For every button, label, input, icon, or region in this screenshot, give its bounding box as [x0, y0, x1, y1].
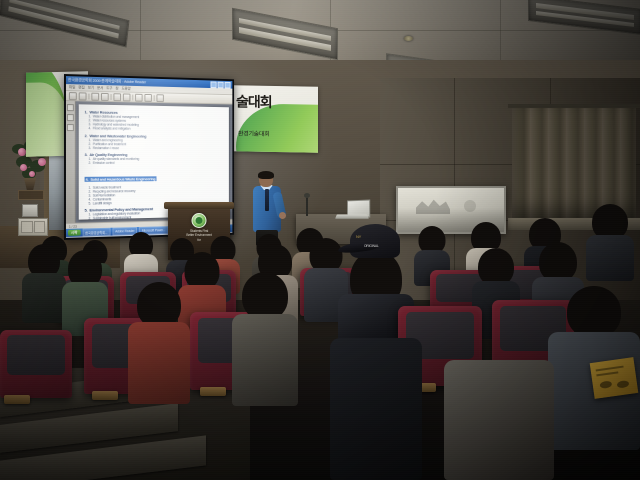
- laptop-keyboard[interactable]: [335, 214, 369, 218]
- audience-torso: [444, 360, 554, 480]
- audience-member: [22, 244, 66, 322]
- doc-section-highlighted: 4. Solid and Hazardous Waste Engineering…: [85, 167, 226, 205]
- banner-right-subtitle: 환경기술대회: [238, 128, 269, 138]
- section-number: 4.: [86, 177, 89, 182]
- conference-program-booklet[interactable]: [590, 357, 639, 399]
- bookmarks-icon[interactable]: [67, 104, 74, 111]
- banner-right-title: 술대회: [236, 91, 272, 112]
- seat-armrest: [4, 395, 30, 404]
- doc-section: 2. Water and Wastewater Engineering 1.Wa…: [85, 133, 226, 150]
- menu-item-edit[interactable]: 편집: [78, 85, 84, 90]
- navigation-pane[interactable]: [66, 101, 76, 223]
- audience-torso: [232, 314, 298, 406]
- section-number: 1.: [85, 109, 88, 114]
- audience-member: [444, 360, 554, 480]
- pages-icon[interactable]: [67, 114, 74, 121]
- cap-brim-text: ORIGINAL: [364, 244, 379, 248]
- ceiling-light-2: [0, 0, 129, 48]
- ceiling-light-1: [232, 8, 338, 61]
- audience-member: [232, 272, 298, 404]
- menu-item-tools[interactable]: 도구: [106, 86, 112, 91]
- start-button[interactable]: 시작: [68, 230, 80, 236]
- banner-right: 술대회 환경기술대회: [232, 85, 318, 153]
- speaker-hand: [279, 212, 286, 219]
- cap-logo: NY: [356, 234, 361, 239]
- seat-armrest: [200, 387, 226, 396]
- speaker-hair: [258, 171, 274, 179]
- doc-section: 3. Air Quality Engineering 1.Air quality…: [85, 152, 226, 165]
- item-text: Sustainable built environment: [93, 216, 131, 220]
- microphone: [306, 196, 308, 216]
- speaker-tie: [265, 189, 269, 211]
- item-text: Emission control: [93, 161, 115, 165]
- menu-item-help[interactable]: 도움말: [121, 86, 130, 91]
- select-tool-icon[interactable]: [91, 92, 99, 100]
- item-text: Flood analysis and mitigation: [93, 126, 131, 130]
- hand-tool-icon[interactable]: [101, 92, 109, 100]
- item-number: 2.: [88, 217, 90, 220]
- sprinkler-icon: [404, 36, 413, 41]
- window-controls[interactable]: [211, 81, 231, 88]
- search-icon[interactable]: [156, 94, 163, 102]
- menu-item-file[interactable]: 파일: [69, 85, 76, 90]
- prev-page-icon[interactable]: [135, 93, 142, 101]
- audience-torso: [22, 273, 66, 323]
- seat-armrest: [92, 391, 118, 400]
- item-number: 5.: [88, 201, 90, 205]
- menu-item-window[interactable]: 창: [115, 86, 118, 91]
- taskbar-item[interactable]: 한국환경공학회...: [82, 228, 110, 237]
- audience-member: [330, 338, 422, 480]
- university-seal-icon: [192, 213, 207, 228]
- doc-section: 1. Water Resources 1.Water distribution …: [85, 109, 226, 131]
- section-heading: Solid and Hazardous Waste Engineering: [90, 176, 155, 181]
- audience-member: [586, 204, 634, 280]
- open-icon[interactable]: [69, 92, 77, 100]
- item-number: 4.: [88, 126, 90, 130]
- light-switch[interactable]: [22, 204, 38, 217]
- next-page-icon[interactable]: [144, 93, 151, 101]
- auditorium-seat[interactable]: [0, 330, 72, 398]
- audience-torso: [128, 322, 190, 404]
- section-number: 3.: [85, 152, 88, 157]
- lecture-hall-photo: 2 일시 술대회 환경기술대회 한국환경공학회 2009 춘계학술대회 - Ad…: [0, 0, 640, 480]
- zoom-in-icon[interactable]: [123, 93, 131, 101]
- print-icon[interactable]: [79, 92, 87, 100]
- menu-item-view[interactable]: 보기: [88, 85, 94, 90]
- item-number: 2.: [88, 161, 90, 165]
- item-text: Reclamation / reuse: [93, 146, 119, 150]
- wall-outlets[interactable]: [18, 218, 48, 236]
- menu-item-document[interactable]: 문서: [97, 85, 103, 90]
- baseball-cap: NY ORIGINAL: [350, 224, 400, 258]
- section-number: 2.: [85, 133, 88, 138]
- laptop[interactable]: [336, 200, 370, 220]
- attachments-icon[interactable]: [67, 124, 74, 131]
- section-number: 5.: [85, 208, 88, 213]
- wall-plaque: [18, 190, 44, 200]
- ceiling-light-4: [528, 0, 640, 35]
- zoom-out-icon[interactable]: [113, 93, 121, 101]
- audience-torso: [330, 338, 422, 480]
- item-number: 3.: [88, 146, 90, 150]
- audience-torso: [586, 235, 634, 281]
- item-text: Landfill design: [93, 201, 112, 205]
- audience-member: [128, 282, 190, 402]
- selected-text-highlight[interactable]: 4. Solid and Hazardous Waste Engineering: [85, 176, 157, 181]
- page-indicator: 1 / 23: [69, 224, 77, 228]
